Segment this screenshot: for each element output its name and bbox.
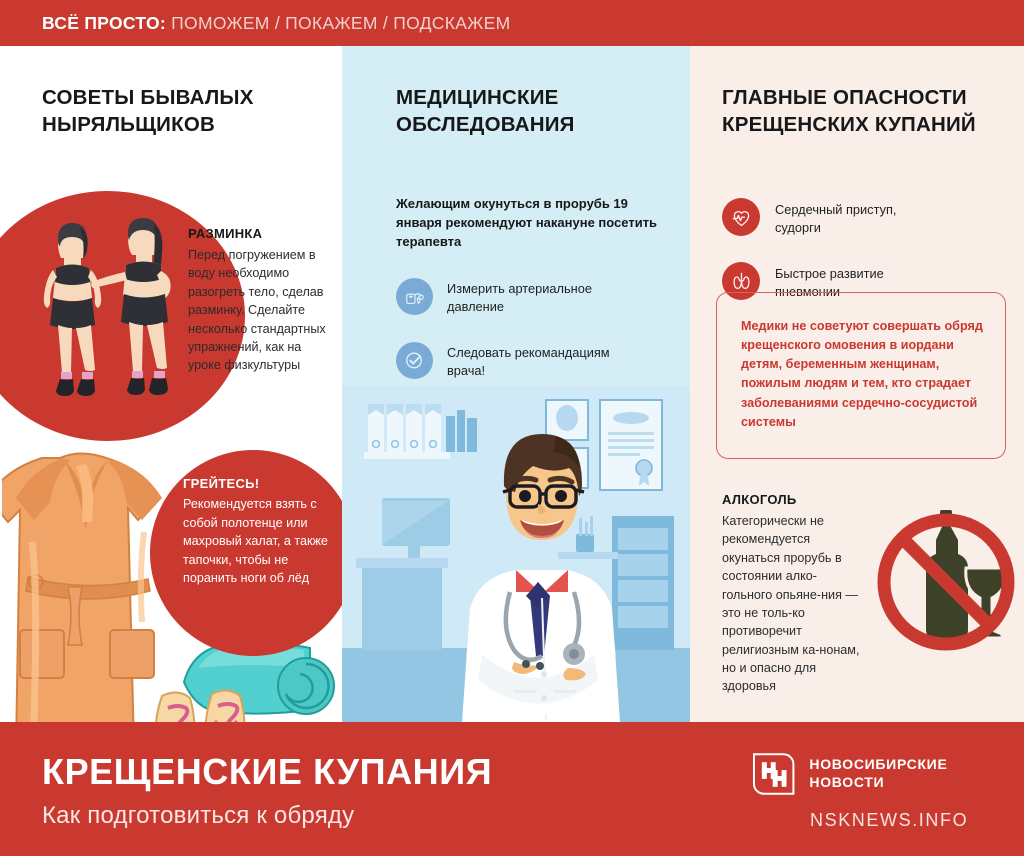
footer-bar: КРЕЩЕНСКИЕ КУПАНИЯ Как подготовиться к о… bbox=[0, 722, 1024, 856]
danger-item-label: Сердечный приступ, судорги bbox=[775, 198, 920, 237]
medical-item-label: Следовать рекомандациям врача! bbox=[447, 342, 637, 380]
nn-monogram-logo bbox=[752, 752, 795, 796]
doctor-illustration bbox=[342, 386, 690, 722]
get-warm-text-block: ГРЕЙТЕСЬ! Рекомендуется взять с собой по… bbox=[183, 476, 335, 588]
medical-lead-text: Желающим окунуться в прорубь 19 января р… bbox=[396, 194, 668, 252]
top-banner-text: ВСЁ ПРОСТО: ПОМОЖЕМ / ПОКАЖЕМ / ПОДСКАЖЕ… bbox=[42, 13, 511, 34]
alcohol-body: Категорически не рекомендуется окунаться… bbox=[722, 512, 862, 696]
medical-warning-box: Медики не советуют совершать обряд креще… bbox=[716, 292, 1006, 459]
get-warm-body: Рекомендуется взять с собой полотенце ил… bbox=[183, 495, 335, 588]
left-column-title: СОВЕТЫ БЫВАЛЫХ НЫРЯЛЬЩИКОВ bbox=[42, 84, 322, 138]
top-banner: ВСЁ ПРОСТО: ПОМОЖЕМ / ПОКАЖЕМ / ПОДСКАЖЕ… bbox=[0, 0, 1024, 46]
poster-subtitle: Как подготовиться к обряду bbox=[42, 802, 354, 830]
blood-pressure-monitor-icon bbox=[396, 278, 433, 315]
column-medical: МЕДИЦИНСКИЕ ОБСЛЕДОВАНИЯ Желающим окунут… bbox=[342, 46, 690, 722]
right-column-title: ГЛАВНЫЕ ОПАСНОСТИ КРЕЩЕНСКИХ КУПАНИЙ bbox=[722, 84, 1022, 138]
warmup-text-block: РАЗМИНКА Перед погружением в воду необхо… bbox=[188, 226, 328, 375]
slippers-illustration bbox=[148, 682, 258, 722]
alcohol-text-block: АЛКОГОЛЬ Категорически не рекомендуется … bbox=[722, 492, 862, 696]
warmup-heading: РАЗМИНКА bbox=[188, 226, 328, 241]
middle-column-title: МЕДИЦИНСКИЕ ОБСЛЕДОВАНИЯ bbox=[396, 84, 686, 138]
warmup-body: Перед погружением в воду необходимо разо… bbox=[188, 246, 328, 375]
brand-name: НОВОСИБИРСКИЕ НОВОСТИ bbox=[809, 756, 1024, 792]
medical-item-follow-advice: Следовать рекомандациям врача! bbox=[396, 342, 637, 380]
column-tips: СОВЕТЫ БЫВАЛЫХ НЫРЯЛЬЩИКОВ bbox=[0, 46, 342, 722]
heart-pulse-icon bbox=[722, 198, 760, 236]
medical-item-label: Измерить артериальное давление bbox=[447, 278, 637, 316]
check-circle-icon bbox=[396, 342, 433, 379]
two-women-illustration bbox=[20, 212, 210, 427]
get-warm-heading: ГРЕЙТЕСЬ! bbox=[183, 476, 335, 491]
poster-title: КРЕЩЕНСКИЕ КУПАНИЯ bbox=[42, 754, 492, 790]
alcohol-heading: АЛКОГОЛЬ bbox=[722, 492, 862, 507]
medical-item-blood-pressure: Измерить артериальное давление bbox=[396, 278, 637, 316]
danger-item-heart-attack: Сердечный приступ, судорги bbox=[722, 198, 920, 237]
no-alcohol-sign-illustration bbox=[872, 496, 1020, 656]
infographic-poster: ВСЁ ПРОСТО: ПОМОЖЕМ / ПОКАЖЕМ / ПОДСКАЖЕ… bbox=[0, 0, 1024, 856]
brand-block[interactable]: НОВОСИБИРСКИЕ НОВОСТИ bbox=[752, 752, 1024, 796]
top-banner-strong: ВСЁ ПРОСТО: bbox=[42, 13, 166, 33]
medical-warning-text: Медики не советуют совершать обряд креще… bbox=[741, 317, 983, 432]
column-dangers: ГЛАВНЫЕ ОПАСНОСТИ КРЕЩЕНСКИХ КУПАНИЙ Сер… bbox=[690, 46, 1024, 722]
site-url[interactable]: NSKNEWS.INFO bbox=[810, 810, 968, 831]
top-banner-rest: ПОМОЖЕМ / ПОКАЖЕМ / ПОДСКАЖЕМ bbox=[166, 13, 510, 33]
